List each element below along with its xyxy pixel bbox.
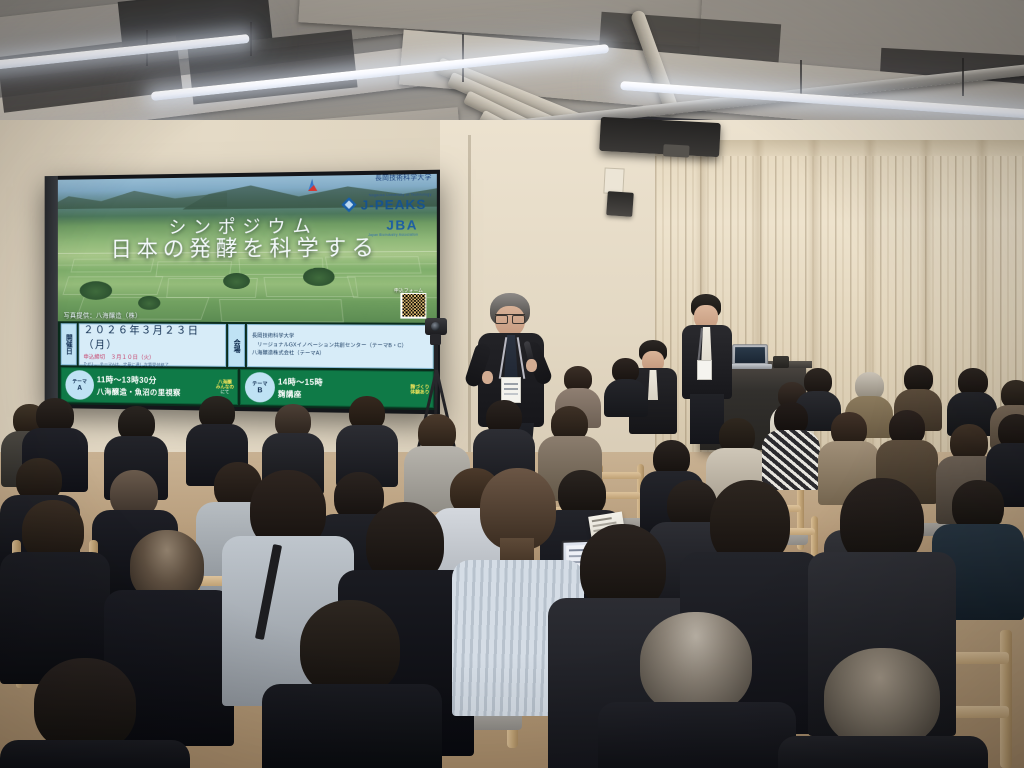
shoulders: [0, 740, 190, 768]
theme-b-pill: テーマ B: [245, 372, 275, 402]
audience-member: [604, 358, 648, 416]
theme-b-time: 14時～15時: [278, 376, 323, 388]
diamond-icon: [341, 197, 356, 212]
left-hand: [482, 371, 493, 384]
ceiling-hanger-rod: [250, 22, 252, 56]
theme-a-pill-letter: A: [77, 385, 82, 392]
j-peaks-label: J-PEAKS: [361, 196, 427, 212]
podium-device: [773, 356, 789, 368]
audience-member: [262, 600, 442, 768]
head: [300, 600, 400, 696]
info-row-date-venue: 開催日 ２０２６年３月２３日（月） 申込締切 ３月１０日（火） ただし、テーマA…: [61, 323, 434, 369]
laptop-screen: [735, 347, 765, 363]
theme-a-badge: 八海醸 みんなの にて: [216, 379, 234, 394]
name-badge: [697, 360, 712, 380]
theme-b-pill-letter: B: [257, 387, 262, 394]
nagaoka-university-logo: 長岡技術科学大学 Nagaoka University of Technolog…: [308, 175, 431, 193]
head: [640, 612, 752, 714]
rice-paddy: [219, 299, 344, 323]
shoulders: [598, 702, 796, 768]
photo-credit: 写真提供：八海醸造（株）: [64, 309, 142, 319]
theme-a-badge-line-3: にて: [216, 389, 234, 394]
photo-scene: 長岡技術科学大学 Nagaoka University of Technolog…: [0, 0, 1024, 768]
venue-label: 会場: [228, 324, 245, 367]
slide-title-line-2: 日本の発酵を科学する: [58, 229, 437, 263]
tree-cluster: [304, 268, 335, 286]
university-name-ja: 長岡技術科学大学: [375, 174, 431, 182]
audience-member: [598, 612, 796, 768]
audience-member: [0, 500, 110, 680]
university-mark-icon: [308, 179, 317, 191]
tree-cluster: [138, 296, 160, 310]
wall-speaker: [606, 191, 634, 217]
laptop-lid: [732, 344, 768, 366]
theme-a-pill: テーマ A: [65, 370, 94, 400]
venue-line-1: 長岡技術科学大学: [252, 333, 429, 342]
screen-bezel: [45, 176, 58, 408]
date-value: ２０２６年３月２３日（月）: [83, 322, 221, 353]
theme-b-name: 麹講座: [278, 388, 323, 400]
application-deadline: 申込締切 ３月１０日（火）: [83, 352, 221, 361]
slide-content: 長岡技術科学大学 Nagaoka University of Technolog…: [58, 174, 437, 410]
right-hand: [526, 359, 537, 372]
date-label: 開催日: [61, 323, 77, 365]
video-camera-icon: [425, 318, 447, 335]
tree-cluster: [224, 273, 250, 289]
shoulders: [262, 684, 442, 768]
theme-a-name: 八海醸造・魚沼の里視察: [97, 386, 181, 398]
head: [34, 658, 136, 752]
ceiling-hanger-rod: [800, 60, 802, 94]
ceiling-projector: [599, 117, 721, 157]
venue-line-3: 八海醸造株式会社（テーマA）: [252, 350, 429, 359]
projection-screen: 長岡技術科学大学 Nagaoka University of Technolog…: [45, 170, 440, 415]
theme-a-time: 11時～13時30分: [97, 374, 181, 386]
qr-code-pattern: [402, 294, 425, 317]
ceiling-hanger-rod: [962, 58, 964, 96]
eyeglasses-icon: [495, 314, 525, 321]
audience-member: [778, 648, 988, 768]
slide-background-photo: 長岡技術科学大学 Nagaoka University of Technolog…: [58, 174, 437, 323]
ceiling-hanger-rod: [462, 34, 464, 82]
audience-member: [762, 402, 820, 488]
audience-member: [0, 658, 190, 768]
venue-cell: 長岡技術科学大学 リージョナルGXイノベーション共創センター（テーマB・C） 八…: [247, 324, 434, 369]
wall-access-plate: [603, 167, 624, 194]
shoulders: [604, 379, 648, 417]
rice-paddy: [62, 276, 163, 295]
shoulders: [778, 736, 988, 768]
date-cell: ２０２６年３月２３日（月） 申込締切 ３月１０日（火） ただし、テーマAは、定員…: [79, 323, 226, 367]
head: [824, 648, 940, 748]
qr-code[interactable]: [400, 293, 426, 319]
